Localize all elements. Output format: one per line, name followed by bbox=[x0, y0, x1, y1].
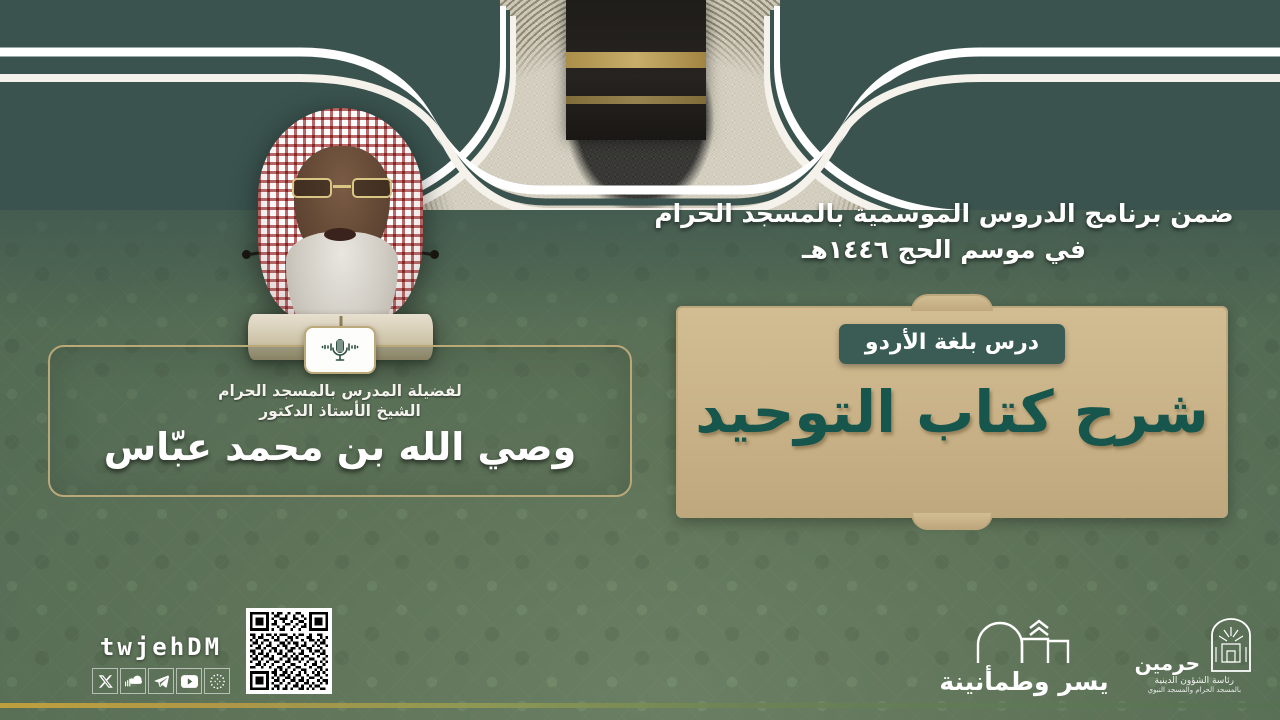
microphone-icon bbox=[319, 335, 361, 365]
language-badge: درس بلغة الأردو bbox=[839, 324, 1065, 364]
social-links-row bbox=[92, 668, 230, 694]
microphone-badge bbox=[304, 326, 376, 374]
yusr-wa-tumaninah-wordmark: يسر وطمأنينة bbox=[939, 669, 1108, 694]
microphone-right bbox=[430, 250, 439, 259]
poster-canvas: لفضيلة المدرس بالمسجد الحرام الشيخ الأست… bbox=[0, 0, 1280, 720]
speaker-honorific-line-1: لفضيلة المدرس بالمسجد الحرام bbox=[218, 382, 462, 400]
kaaba-icon bbox=[566, 0, 706, 140]
hero-banner bbox=[0, 0, 1280, 210]
haramain-religious-affairs-logo: حرمين رئاسة الشؤون الدينية بالمسجد الحرا… bbox=[1135, 617, 1254, 694]
telegram-icon[interactable] bbox=[148, 668, 174, 694]
handle-column: twjehDM bbox=[92, 633, 230, 694]
x-twitter-icon[interactable] bbox=[92, 668, 118, 694]
presidency-caption-line-2: بالمسجد الحرام والمسجد النبوي bbox=[1148, 686, 1241, 694]
presidency-caption-line-1: رئاسة الشؤون الدينية bbox=[1155, 676, 1234, 686]
lesson-title: شرح كتاب التوحيد bbox=[695, 378, 1208, 448]
account-handle: twjehDM bbox=[100, 633, 222, 661]
eyeglasses-icon bbox=[292, 178, 392, 198]
youtube-icon[interactable] bbox=[176, 668, 202, 694]
organization-logos: يسر وطمأنينة حرمين رئاسة الشؤون الدينية bbox=[939, 602, 1254, 694]
program-subheading-line-1: ضمن برنامج الدروس الموسمية بالمسجد الحرا… bbox=[654, 199, 1233, 228]
title-card: درس بلغة الأردو شرح كتاب التوحيد bbox=[676, 306, 1228, 518]
speaker-honorific-line-2: الشيخ الأستاذ الدكتور bbox=[259, 402, 421, 420]
soundcloud-icon[interactable] bbox=[120, 668, 146, 694]
program-subheading: ضمن برنامج الدروس الموسمية بالمسجد الحرا… bbox=[632, 196, 1256, 267]
footer-gold-divider bbox=[0, 703, 1280, 708]
speaker-name: وصي الله بن محمد عبّاس bbox=[104, 424, 577, 472]
program-subheading-line-2: في موسم الحج ١٤٤٦هـ bbox=[632, 232, 1256, 268]
arch-overlay-right bbox=[780, 0, 1280, 210]
qr-code[interactable] bbox=[246, 608, 332, 694]
speaker-portrait bbox=[238, 100, 443, 358]
qr-code-image bbox=[250, 612, 328, 690]
mouth bbox=[324, 228, 356, 241]
mosque-dome-outline-icon bbox=[970, 617, 1078, 669]
haramain-wordmark: حرمين bbox=[1135, 653, 1200, 673]
mihrab-arch-icon bbox=[1208, 617, 1254, 673]
brand-block: twjehDM bbox=[62, 598, 332, 694]
yusr-wa-tumaninah-logo: يسر وطمأنينة bbox=[939, 617, 1108, 694]
snapchat-dots-icon[interactable] bbox=[204, 668, 230, 694]
microphone-left bbox=[242, 250, 251, 259]
